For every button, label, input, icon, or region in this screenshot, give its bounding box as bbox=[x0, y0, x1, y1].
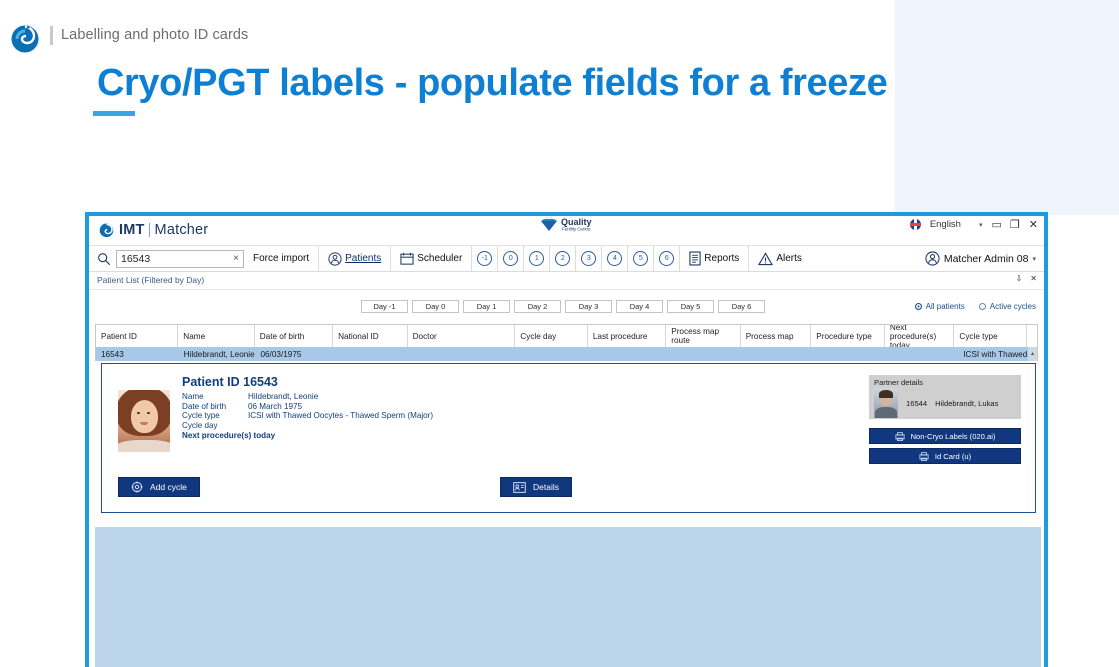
day-filter-6[interactable]: Day 6 bbox=[718, 300, 765, 313]
patient-list-titlebar: Patient List (Filtered by Day) ⇩ ✕ bbox=[89, 272, 1044, 290]
user-menu[interactable]: Matcher Admin 08 ▾ bbox=[925, 251, 1044, 266]
day-filter-1[interactable]: Day 1 bbox=[463, 300, 510, 313]
clinic-logo: Quality Fertility Centre bbox=[536, 217, 626, 232]
day-circle-6[interactable]: 6 bbox=[653, 246, 679, 272]
nav-scheduler[interactable]: Scheduler bbox=[390, 246, 471, 272]
cell-cycle-type: ICSI with Thawed O... bbox=[958, 350, 1037, 359]
nav-reports-label: Reports bbox=[704, 253, 739, 264]
day-circle-label: -1 bbox=[477, 251, 492, 266]
uk-flag-icon bbox=[910, 219, 921, 230]
search-icon[interactable] bbox=[97, 252, 111, 266]
scroll-up-icon[interactable]: ▴ bbox=[1028, 347, 1037, 361]
patient-scope-radios: All patients Active cycles bbox=[915, 302, 1036, 311]
patient-table: Patient ID Name Date of birth National I… bbox=[95, 324, 1038, 361]
nav-alerts-label: Alerts bbox=[776, 253, 802, 264]
brand-name: IMT bbox=[119, 222, 145, 238]
radio-all-patients-label: All patients bbox=[926, 302, 965, 311]
add-cycle-button[interactable]: Add cycle bbox=[118, 477, 200, 497]
day-circle-minus1[interactable]: -1 bbox=[471, 246, 497, 272]
day-filter-4[interactable]: Day 4 bbox=[616, 300, 663, 313]
day-filter-minus1[interactable]: Day -1 bbox=[361, 300, 408, 313]
col-next-procedures-today[interactable]: Next procedure(s) today bbox=[885, 325, 955, 347]
slide-kicker: Labelling and photo ID cards bbox=[50, 26, 248, 45]
clear-x-icon[interactable]: × bbox=[233, 253, 239, 264]
application-window: IMT|Matcher Quality Fertility Centre bbox=[85, 212, 1048, 667]
warning-triangle-icon bbox=[758, 252, 773, 266]
svg-text:Fertility Centre: Fertility Centre bbox=[562, 226, 591, 231]
col-blank[interactable] bbox=[1027, 325, 1037, 347]
detail-fields: Name Hildebrandt, Leonie Date of birth 0… bbox=[182, 392, 433, 440]
field-dob-key: Date of birth bbox=[182, 402, 248, 412]
close-button[interactable]: ✕ bbox=[1029, 220, 1038, 230]
pin-icon[interactable]: ⇩ bbox=[1016, 274, 1023, 283]
id-card-icon bbox=[513, 482, 526, 493]
day-circle-label: 5 bbox=[633, 251, 648, 266]
details-button[interactable]: Details bbox=[500, 477, 572, 497]
minimize-button[interactable]: ▭ bbox=[992, 220, 1001, 230]
radio-active-cycles-label: Active cycles bbox=[990, 302, 1036, 311]
day-circle-0[interactable]: 0 bbox=[497, 246, 523, 272]
day-circle-label: 4 bbox=[607, 251, 622, 266]
day-circle-5[interactable]: 5 bbox=[627, 246, 653, 272]
slide-background-panel bbox=[895, 0, 1119, 215]
language-caret[interactable]: ▾ bbox=[979, 221, 983, 229]
window-controls: English chevron-down-icon ▾ ▭ ❐ ✕ bbox=[910, 219, 1038, 230]
app-toolbar: 16543 × Force import Patients bbox=[89, 246, 1044, 272]
restore-button[interactable]: ❐ bbox=[1010, 220, 1020, 230]
search-input-value: 16543 bbox=[121, 253, 233, 265]
col-doctor[interactable]: Doctor bbox=[408, 325, 516, 347]
day-circle-1[interactable]: 1 bbox=[523, 246, 549, 272]
col-patient-id[interactable]: Patient ID bbox=[96, 325, 178, 347]
detail-title: Patient ID 16543 bbox=[182, 375, 278, 389]
printer-icon bbox=[895, 432, 905, 441]
field-cycle-type-key: Cycle type bbox=[182, 411, 248, 421]
cell-name: Hildebrandt, Leonie bbox=[179, 350, 256, 359]
patient-photo bbox=[118, 390, 170, 452]
id-card-button[interactable]: Id Card (u) bbox=[869, 448, 1021, 464]
field-cycle-type: Cycle type ICSI with Thawed Oocytes - Th… bbox=[182, 411, 433, 421]
details-label: Details bbox=[533, 482, 559, 492]
imt-drop-icon bbox=[98, 221, 115, 238]
calendar-icon bbox=[400, 252, 414, 265]
field-next-procedures-today: Next procedure(s) today bbox=[182, 431, 433, 441]
detail-frame bbox=[95, 527, 1041, 667]
imt-swirl-logo-icon bbox=[8, 20, 42, 54]
col-process-map[interactable]: Process map bbox=[741, 325, 812, 347]
app-titlebar: IMT|Matcher Quality Fertility Centre bbox=[89, 216, 1044, 246]
patient-list-label: Patient List (Filtered by Day) bbox=[97, 275, 204, 285]
table-row[interactable]: 16543 Hildebrandt, Leonie 06/03/1975 ICS… bbox=[96, 347, 1037, 361]
patient-detail-card: Patient ID 16543 Name Hildebrandt, Leoni… bbox=[101, 363, 1036, 513]
radio-active-cycles[interactable]: Active cycles bbox=[979, 302, 1036, 311]
col-national-id[interactable]: National ID bbox=[333, 325, 407, 347]
day-circle-label: 0 bbox=[503, 251, 518, 266]
field-name-key: Name bbox=[182, 392, 248, 402]
diamond-icon bbox=[541, 217, 557, 231]
field-date-of-birth: Date of birth 06 March 1975 bbox=[182, 402, 433, 412]
day-filter-5[interactable]: Day 5 bbox=[667, 300, 714, 313]
partner-details-title: Partner details bbox=[874, 378, 1016, 387]
day-filter-0[interactable]: Day 0 bbox=[412, 300, 459, 313]
partner-photo bbox=[874, 388, 898, 418]
cell-patient-id: 16543 bbox=[96, 350, 179, 359]
title-underline bbox=[93, 111, 135, 116]
printer-icon bbox=[919, 452, 929, 461]
col-procedure-type[interactable]: Procedure type bbox=[811, 325, 885, 347]
table-header-row: Patient ID Name Date of birth National I… bbox=[96, 325, 1037, 347]
cell-date-of-birth: 06/03/1975 bbox=[255, 350, 334, 359]
field-cycle-day-key: Cycle day bbox=[182, 421, 248, 431]
col-cycle-type[interactable]: Cycle type bbox=[954, 325, 1027, 347]
field-next-procedures-label: Next procedure(s) today bbox=[182, 431, 275, 441]
nav-alerts[interactable]: Alerts bbox=[748, 246, 811, 272]
force-import-button[interactable]: Force import bbox=[244, 246, 318, 272]
col-last-procedure[interactable]: Last procedure bbox=[588, 325, 666, 347]
col-process-map-route[interactable]: Process map route bbox=[666, 325, 740, 347]
language-label[interactable]: English bbox=[930, 219, 961, 230]
close-icon[interactable]: ✕ bbox=[1030, 274, 1037, 283]
col-date-of-birth[interactable]: Date of birth bbox=[255, 325, 333, 347]
partner-id: 16544 bbox=[906, 399, 927, 408]
field-cycle-day: Cycle day bbox=[182, 421, 433, 431]
field-name: Name Hildebrandt, Leonie bbox=[182, 392, 433, 402]
day-circle-4[interactable]: 4 bbox=[601, 246, 627, 272]
col-cycle-day[interactable]: Cycle day bbox=[515, 325, 588, 347]
radio-dot bbox=[979, 303, 986, 310]
day-circle-3[interactable]: 3 bbox=[575, 246, 601, 272]
user-avatar-icon bbox=[925, 251, 940, 266]
radio-all-patients[interactable]: All patients bbox=[915, 302, 965, 311]
non-cryo-labels-label: Non-Cryo Labels (020.ai) bbox=[911, 432, 996, 441]
partner-name: Hildebrandt, Lukas bbox=[935, 399, 998, 408]
app-brand: IMT|Matcher bbox=[98, 221, 208, 238]
day-filter-3[interactable]: Day 3 bbox=[565, 300, 612, 313]
slide-canvas: Labelling and photo ID cards Cryo/PGT la… bbox=[0, 0, 1119, 667]
day-circle-label: 2 bbox=[555, 251, 570, 266]
day-filter-2[interactable]: Day 2 bbox=[514, 300, 561, 313]
day-circle-label: 3 bbox=[581, 251, 596, 266]
add-cycle-icon bbox=[131, 481, 143, 493]
document-icon bbox=[689, 251, 701, 266]
brand-separator: | bbox=[148, 222, 152, 238]
col-name[interactable]: Name bbox=[178, 325, 254, 347]
force-import-label: Force import bbox=[253, 253, 309, 264]
id-card-label: Id Card (u) bbox=[935, 452, 971, 461]
day-circle-2[interactable]: 2 bbox=[549, 246, 575, 272]
field-name-value: Hildebrandt, Leonie bbox=[248, 392, 318, 402]
page-title: Cryo/PGT labels - populate fields for a … bbox=[97, 62, 887, 105]
nav-scheduler-label: Scheduler bbox=[417, 253, 462, 264]
nav-patients[interactable]: Patients bbox=[318, 246, 390, 272]
search-input[interactable]: 16543 × bbox=[116, 250, 244, 268]
user-caret-icon[interactable]: ▾ bbox=[1032, 255, 1036, 263]
add-cycle-label: Add cycle bbox=[150, 482, 187, 492]
day-circle-label: 1 bbox=[529, 251, 544, 266]
non-cryo-labels-button[interactable]: Non-Cryo Labels (020.ai) bbox=[869, 428, 1021, 444]
nav-reports[interactable]: Reports bbox=[679, 246, 748, 272]
day-circle-label: 6 bbox=[659, 251, 674, 266]
field-cycle-type-value: ICSI with Thawed Oocytes - Thawed Sperm … bbox=[248, 411, 433, 421]
nav-patients-label: Patients bbox=[345, 253, 381, 264]
day-filter-buttons: Day -1 Day 0 Day 1 Day 2 Day 3 Day 4 Day… bbox=[361, 300, 765, 313]
person-icon bbox=[328, 252, 342, 266]
field-dob-value: 06 March 1975 bbox=[248, 402, 302, 412]
partner-details-box: Partner details 16544 Hildebrandt, Lukas bbox=[869, 375, 1021, 419]
user-name-label: Matcher Admin 08 bbox=[944, 253, 1029, 265]
filter-row: Day -1 Day 0 Day 1 Day 2 Day 3 Day 4 Day… bbox=[89, 290, 1044, 324]
brand-product: Matcher bbox=[155, 222, 209, 238]
radio-dot-selected bbox=[915, 303, 922, 310]
